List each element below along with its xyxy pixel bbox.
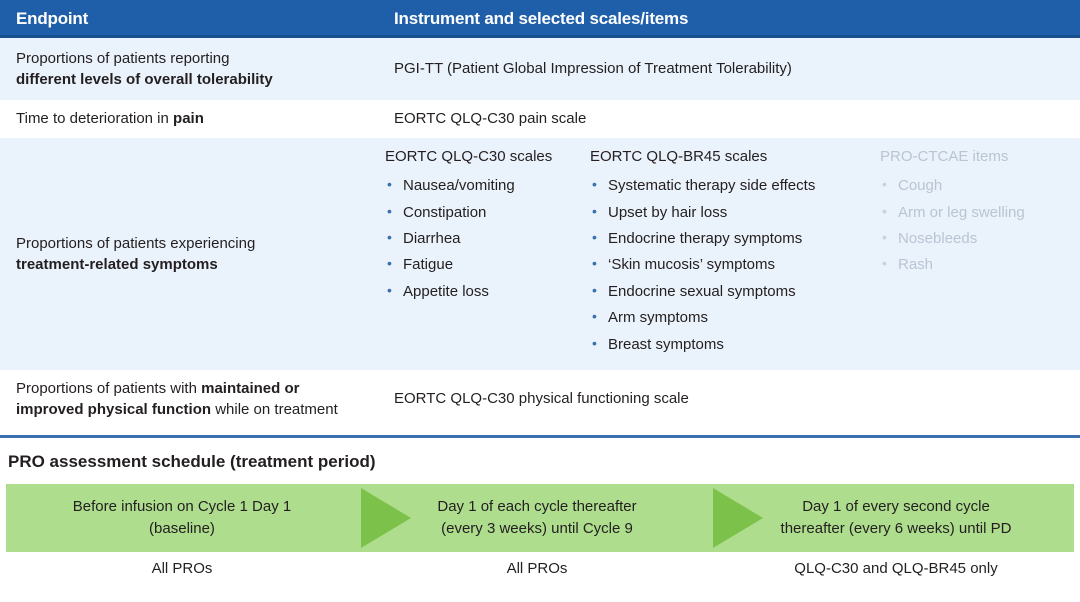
symptom-group-title: PRO-CTCAE items	[880, 146, 1070, 167]
symptom-group-title: EORTC QLQ-C30 scales	[385, 146, 590, 167]
endpoint-text-normal: while on treatment	[211, 401, 338, 418]
table-header-row: Endpoint Instrument and selected scales/…	[0, 0, 1080, 38]
schedule-title: PRO assessment schedule (treatment perio…	[0, 452, 1080, 472]
list-item: Endocrine therapy symptoms	[590, 226, 880, 252]
list-item: Rash	[880, 252, 1070, 278]
instrument-text: EORTC QLQ-C30 physical functioning scale	[394, 388, 1070, 409]
symptom-list: Cough Arm or leg swelling Nosebleeds Ras…	[880, 173, 1070, 279]
segment-text: Before infusion on Cycle 1 Day 1 (baseli…	[73, 496, 291, 540]
instrument-cell: EORTC QLQ-C30 pain scale	[390, 100, 1080, 138]
symptom-list: Systematic therapy side effects Upset by…	[590, 173, 880, 358]
list-item: Fatigue	[385, 252, 590, 278]
segment-line-2: (baseline)	[149, 520, 215, 537]
schedule-segment-1: Before infusion on Cycle 1 Day 1 (baseli…	[6, 484, 358, 552]
endpoint-cell: Proportions of patients experiencing tre…	[0, 138, 381, 370]
symptom-group-title: EORTC QLQ-BR45 scales	[590, 146, 880, 167]
endpoint-text-normal: Proportions of patients reporting	[16, 48, 376, 69]
table-row: Proportions of patients with maintained …	[0, 370, 1080, 428]
footer-label-3: QLQ-C30 and QLQ-BR45 only	[718, 560, 1074, 577]
endpoint-text-bold: treatment-related symptoms	[16, 254, 367, 275]
symptom-group-pro-ctcae: PRO-CTCAE items Cough Arm or leg swellin…	[880, 146, 1070, 358]
endpoint-text-normal: Proportions of patients experiencing	[16, 233, 367, 254]
endpoint-text-bold: different levels of overall tolerability	[16, 69, 376, 90]
footer-label-1: All PROs	[6, 560, 358, 577]
endpoint-text-normal: Proportions of patients with	[16, 380, 201, 397]
list-item: Arm symptoms	[590, 305, 880, 331]
segment-line-1: Before infusion on Cycle 1 Day 1	[73, 498, 291, 515]
symptom-list: Nausea/vomiting Constipation Diarrhea Fa…	[385, 173, 590, 305]
endpoint-text-bold: maintained or	[201, 380, 299, 397]
segment-line-2: (every 3 weeks) until Cycle 9	[441, 520, 633, 537]
endpoint-instrument-table: Endpoint Instrument and selected scales/…	[0, 0, 1080, 428]
instrument-cell: EORTC QLQ-C30 physical functioning scale	[390, 370, 1080, 428]
table-row: Proportions of patients reporting differ…	[0, 38, 1080, 100]
endpoint-cell: Proportions of patients reporting differ…	[0, 38, 390, 100]
schedule-segment-2: Day 1 of each cycle thereafter (every 3 …	[366, 484, 708, 552]
endpoint-line-2: improved physical function while on trea…	[16, 399, 376, 420]
section-divider-rule	[0, 435, 1080, 438]
column-header-endpoint: Endpoint	[0, 9, 390, 29]
list-item: Constipation	[385, 200, 590, 226]
instrument-text: PGI-TT (Patient Global Impression of Tre…	[394, 58, 1070, 79]
endpoint-inline: Time to deterioration in pain	[16, 108, 376, 129]
endpoint-cell: Time to deterioration in pain	[0, 100, 390, 138]
endpoint-cell: Proportions of patients with maintained …	[0, 370, 390, 428]
endpoint-text-bold: improved physical function	[16, 401, 211, 418]
column-header-instrument: Instrument and selected scales/items	[390, 9, 688, 29]
segment-line-1: Day 1 of each cycle thereafter	[437, 498, 636, 515]
table-row: Time to deterioration in pain EORTC QLQ-…	[0, 100, 1080, 138]
symptom-group-qlq-br45: EORTC QLQ-BR45 scales Systematic therapy…	[590, 146, 880, 358]
segment-text: Day 1 of each cycle thereafter (every 3 …	[437, 496, 636, 540]
instrument-cell: EORTC QLQ-C30 scales Nausea/vomiting Con…	[381, 138, 1080, 370]
list-item: Upset by hair loss	[590, 200, 880, 226]
schedule-footer-labels: All PROs All PROs QLQ-C30 and QLQ-BR45 o…	[6, 552, 1074, 584]
symptom-group-qlq-c30: EORTC QLQ-C30 scales Nausea/vomiting Con…	[385, 146, 590, 358]
segment-text: Day 1 of every second cycle thereafter (…	[781, 496, 1012, 540]
list-item: Nosebleeds	[880, 226, 1070, 252]
endpoint-text-normal: Time to deterioration in	[16, 110, 173, 127]
footer-label-2: All PROs	[366, 560, 708, 577]
table-row: Proportions of patients experiencing tre…	[0, 138, 1080, 370]
list-item: Systematic therapy side effects	[590, 173, 880, 199]
instrument-cell: PGI-TT (Patient Global Impression of Tre…	[390, 38, 1080, 100]
pro-assessment-schedule: PRO assessment schedule (treatment perio…	[0, 452, 1080, 584]
schedule-chevron-band: Before infusion on Cycle 1 Day 1 (baseli…	[6, 484, 1074, 552]
list-item: Cough	[880, 173, 1070, 199]
list-item: ‘Skin mucosis’ symptoms	[590, 252, 880, 278]
symptom-groups: EORTC QLQ-C30 scales Nausea/vomiting Con…	[385, 138, 1070, 358]
list-item: Appetite loss	[385, 279, 590, 305]
list-item: Arm or leg swelling	[880, 200, 1070, 226]
schedule-segment-3: Day 1 of every second cycle thereafter (…	[718, 484, 1074, 552]
segment-line-2: thereafter (every 6 weeks) until PD	[781, 520, 1012, 537]
instrument-text: EORTC QLQ-C30 pain scale	[394, 108, 1070, 129]
list-item: Breast symptoms	[590, 332, 880, 358]
list-item: Endocrine sexual symptoms	[590, 279, 880, 305]
segment-line-1: Day 1 of every second cycle	[802, 498, 990, 515]
list-item: Nausea/vomiting	[385, 173, 590, 199]
endpoint-line-1: Proportions of patients with maintained …	[16, 378, 376, 399]
endpoint-text-bold: pain	[173, 110, 204, 127]
list-item: Diarrhea	[385, 226, 590, 252]
